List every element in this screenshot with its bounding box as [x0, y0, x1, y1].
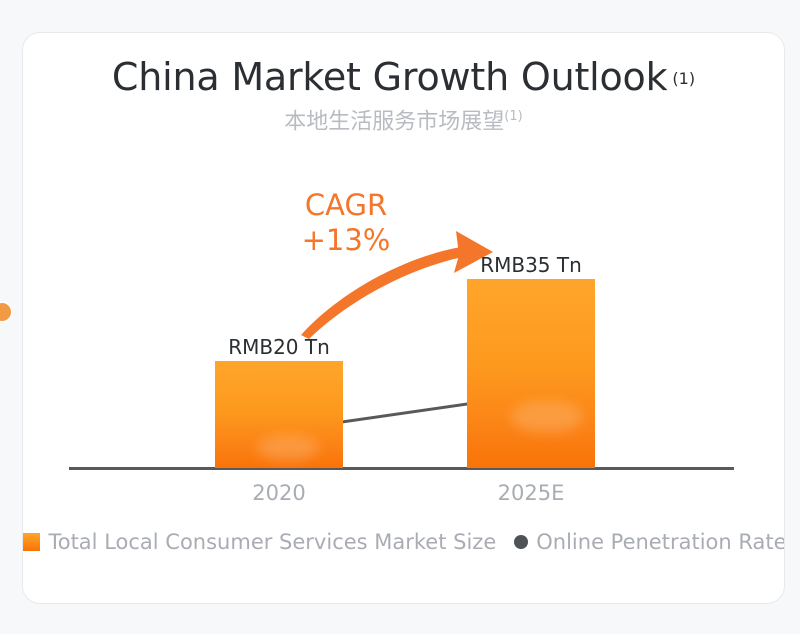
x-axis-tick-2025e: 2025E: [467, 481, 595, 505]
chart-vector-layer: [23, 33, 785, 604]
cagr-label: CAGR: [271, 188, 421, 223]
bar-value-label-2020: RMB20 Tn: [215, 335, 343, 359]
cagr-annotation: CAGR +13%: [271, 188, 421, 259]
legend-label-market-size: Total Local Consumer Services Market Siz…: [48, 530, 496, 554]
bar-2025e[interactable]: [467, 279, 595, 468]
legend-item-penetration-rate[interactable]: Online Penetration Rate: [514, 530, 785, 554]
x-axis-tick-2020: 2020: [215, 481, 343, 505]
cagr-value: +13%: [271, 223, 421, 258]
legend-label-penetration-rate: Online Penetration Rate: [536, 530, 785, 554]
chart-plot-area: RMB20 Tn RMB35 Tn 2020 2025E CAGR +13% T…: [23, 33, 785, 604]
bar-value-label-2025e: RMB35 Tn: [467, 253, 595, 277]
legend-item-market-size[interactable]: Total Local Consumer Services Market Siz…: [22, 530, 496, 554]
chart-card: China Market Growth Outlook(1) 本地生活服务市场展…: [22, 32, 785, 604]
legend-square-swatch-icon: [22, 533, 40, 551]
cut-off-bullet-icon: [0, 301, 13, 323]
legend-circle-swatch-icon: [514, 535, 528, 549]
obscured-label-2025e: [511, 401, 583, 433]
chart-legend: Total Local Consumer Services Market Siz…: [23, 530, 785, 554]
obscured-label-2020: [257, 435, 319, 461]
legend-smudge-overlay: [575, 575, 605, 595]
